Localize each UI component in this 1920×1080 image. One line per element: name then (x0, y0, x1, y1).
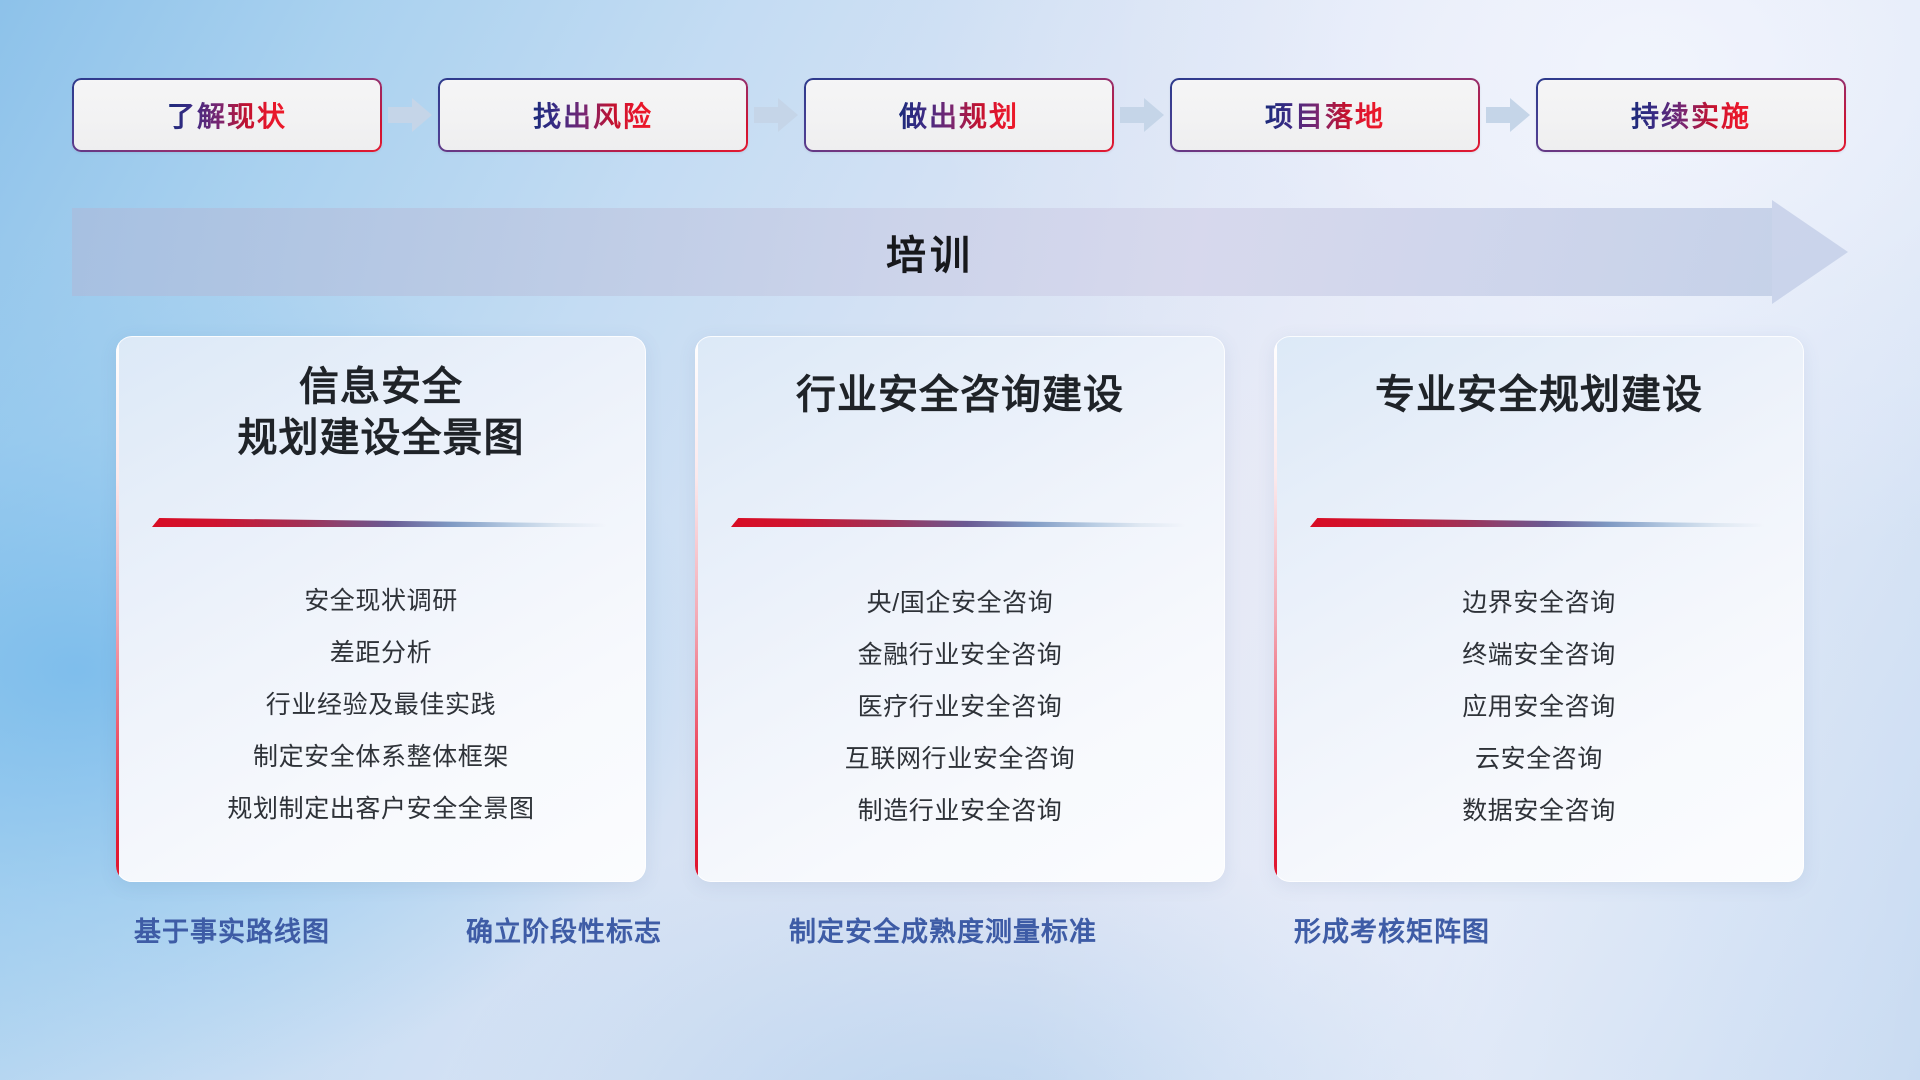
card-list-item: 规划制定出客户安全全景图 (116, 797, 646, 822)
card-professional-security-planning[interactable]: 专业安全规划建设 边界安全咨询 终端安全咨询 应用安全咨询 云安全咨询 数据安全… (1274, 336, 1804, 882)
card-divider-1 (152, 518, 606, 527)
card-title-2: 行业安全咨询建设 (695, 370, 1225, 421)
step-label-1: 了解现状 (167, 95, 287, 135)
card-divider-wedge-3 (1310, 518, 1764, 527)
card-list-item: 应用安全咨询 (1274, 695, 1804, 720)
caption-2: 确立阶段性标志 (466, 910, 662, 949)
caption-row: 基于事实路线图 确立阶段性标志 制定安全成熟度测量标准 形成考核矩阵图 (0, 910, 1920, 970)
card-list-item: 云安全咨询 (1274, 747, 1804, 772)
card-title-line-1b: 规划建设全景图 (116, 413, 646, 464)
step-arrow-icon-1 (382, 78, 438, 152)
card-information-security-blueprint[interactable]: 信息安全 规划建设全景图 安全现状调研 差距分析 行业经验及最佳实践 制定安全体… (116, 336, 646, 882)
slide-stage: 了解现状 找出风险 做出规划 项目落地 (0, 0, 1920, 1080)
card-list-2: 央/国企安全咨询 金融行业安全咨询 医疗行业安全咨询 互联网行业安全咨询 制造行… (695, 591, 1225, 824)
card-title-3: 专业安全规划建设 (1274, 370, 1804, 421)
card-list-item: 制造行业安全咨询 (695, 799, 1225, 824)
process-step-row: 了解现状 找出风险 做出规划 项目落地 (72, 78, 1848, 152)
card-divider-3 (1310, 518, 1764, 527)
card-title-1: 信息安全 规划建设全景图 (116, 362, 646, 464)
step-label-3: 做出规划 (899, 95, 1019, 135)
card-list-item: 行业经验及最佳实践 (116, 693, 646, 718)
step-label-4: 项目落地 (1265, 95, 1385, 135)
caption-1: 基于事实路线图 (134, 910, 330, 949)
card-list-item: 医疗行业安全咨询 (695, 695, 1225, 720)
card-title-line-1a: 信息安全 (116, 362, 646, 413)
step-box-3[interactable]: 做出规划 (804, 78, 1114, 152)
card-list-item: 互联网行业安全咨询 (695, 747, 1225, 772)
step-arrow-icon-2 (748, 78, 804, 152)
card-list-item: 制定安全体系整体框架 (116, 745, 646, 770)
step-arrow-icon-4 (1480, 78, 1536, 152)
card-divider-wedge-2 (731, 518, 1185, 527)
step-label-5: 持续实施 (1631, 95, 1751, 135)
card-divider-2 (731, 518, 1185, 527)
card-industry-security-consulting[interactable]: 行业安全咨询建设 央/国企安全咨询 金融行业安全咨询 医疗行业安全咨询 互联网行… (695, 336, 1225, 882)
card-list-item: 差距分析 (116, 641, 646, 666)
step-box-1[interactable]: 了解现状 (72, 78, 382, 152)
step-label-2: 找出风险 (533, 95, 653, 135)
step-arrow-icon-3 (1114, 78, 1170, 152)
banner-title: 培训 (72, 208, 1848, 296)
card-list-3: 边界安全咨询 终端安全咨询 应用安全咨询 云安全咨询 数据安全咨询 (1274, 591, 1804, 824)
card-title-line-3a: 专业安全规划建设 (1274, 370, 1804, 421)
card-list-item: 边界安全咨询 (1274, 591, 1804, 616)
step-box-4[interactable]: 项目落地 (1170, 78, 1480, 152)
card-list-item: 央/国企安全咨询 (695, 591, 1225, 616)
card-list-item: 终端安全咨询 (1274, 643, 1804, 668)
caption-4: 形成考核矩阵图 (1294, 910, 1490, 949)
step-box-5[interactable]: 持续实施 (1536, 78, 1846, 152)
card-row: 信息安全 规划建设全景图 安全现状调研 差距分析 行业经验及最佳实践 制定安全体… (0, 336, 1920, 882)
card-list-item: 数据安全咨询 (1274, 799, 1804, 824)
step-box-2[interactable]: 找出风险 (438, 78, 748, 152)
card-divider-wedge-1 (152, 518, 606, 527)
card-list-item: 金融行业安全咨询 (695, 643, 1225, 668)
training-banner: 培训 (72, 208, 1848, 296)
card-list-1: 安全现状调研 差距分析 行业经验及最佳实践 制定安全体系整体框架 规划制定出客户… (116, 589, 646, 822)
card-list-item: 安全现状调研 (116, 589, 646, 614)
caption-3: 制定安全成熟度测量标准 (789, 910, 1097, 949)
card-title-line-2a: 行业安全咨询建设 (695, 370, 1225, 421)
